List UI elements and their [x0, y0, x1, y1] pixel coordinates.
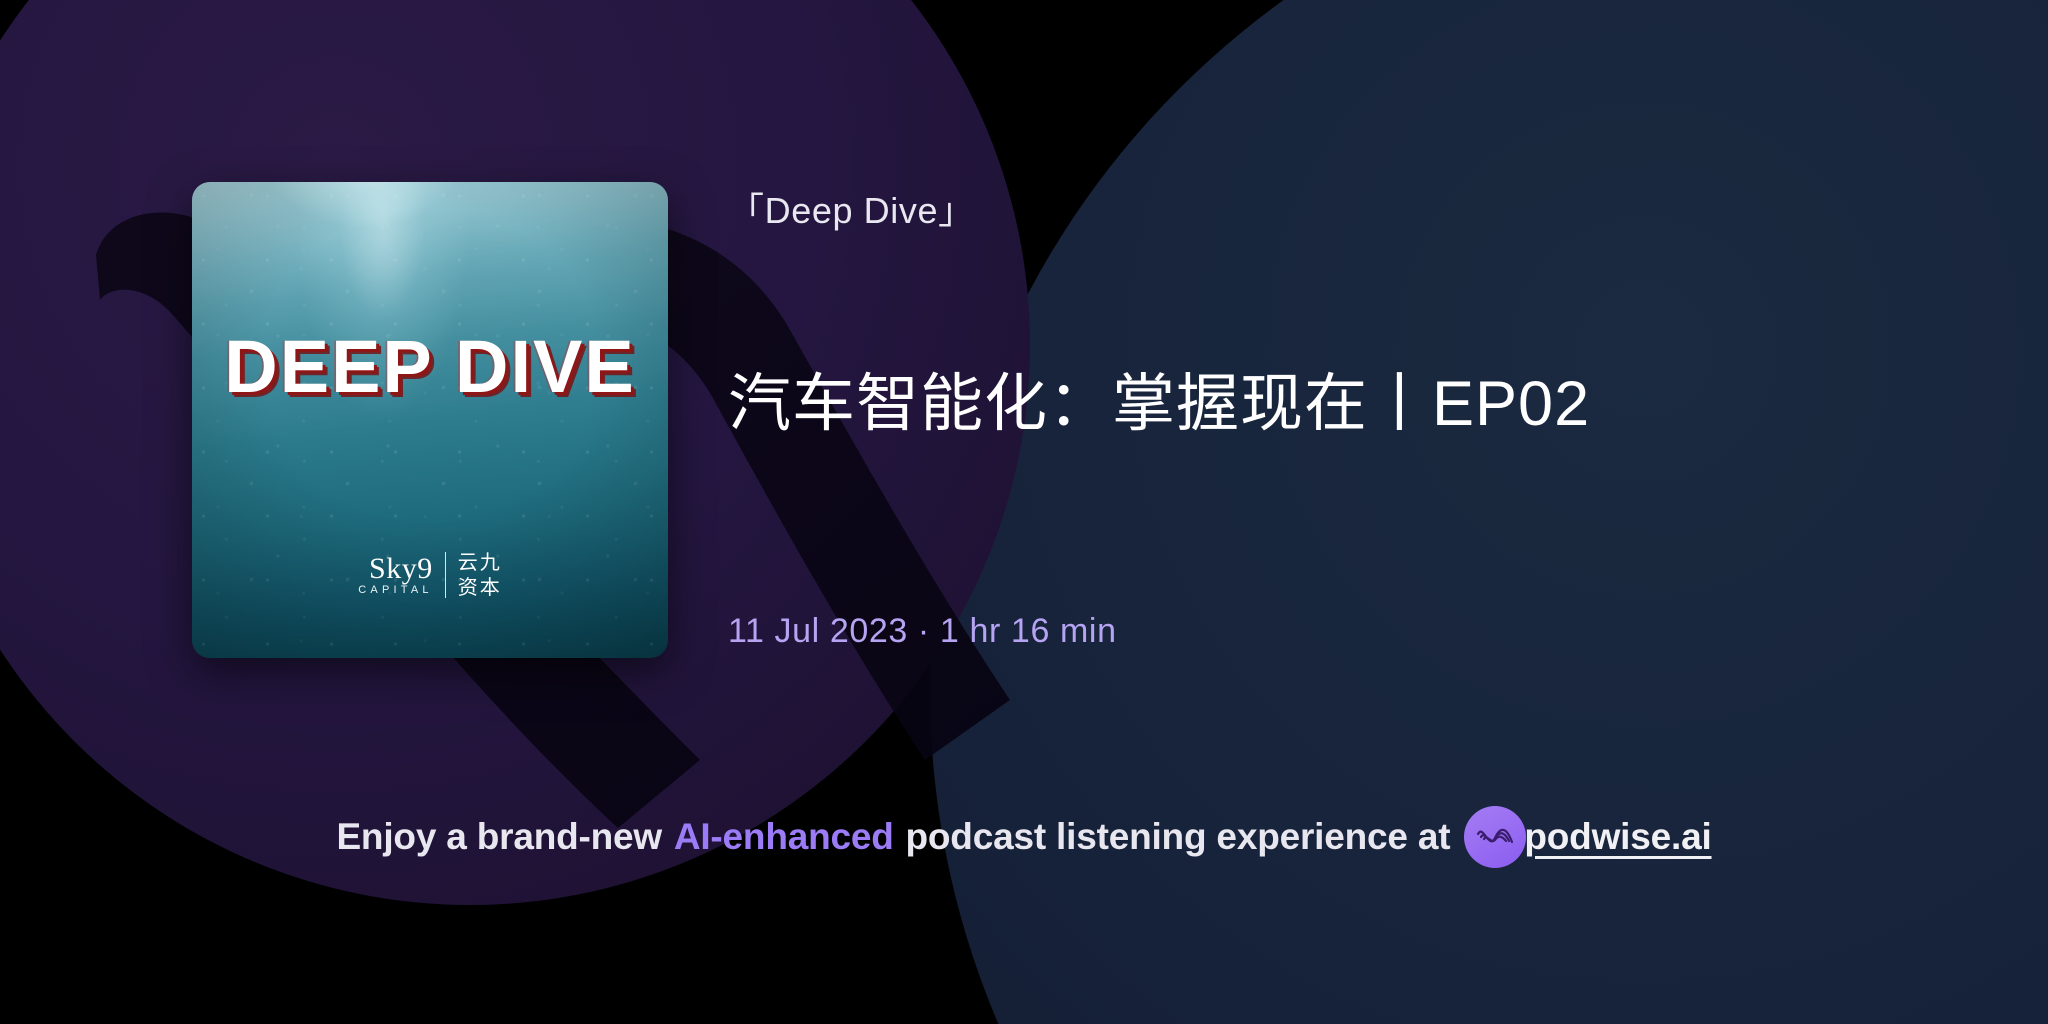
episode-info-column: 「Deep Dive」 汽车智能化：掌握现在丨EP02 11 Jul 2023 …	[728, 0, 1958, 1024]
tagline-highlight: AI-enhanced	[674, 816, 894, 858]
sponsor-cn-line-1: 云九	[458, 550, 502, 575]
podwise-brand-link[interactable]: podwise.ai	[1464, 806, 1711, 868]
cover-sponsor-logo: Sky9 CAPITAL 云九 资本	[192, 550, 668, 600]
sponsor-logo-divider	[445, 552, 446, 598]
card-content: DEEP DIVE Sky9 CAPITAL 云九 资本 「Deep Dive」…	[0, 0, 2048, 1024]
footer-tagline: Enjoy a brand-new AI-enhanced podcast li…	[0, 806, 2048, 868]
sponsor-cn-line-2: 资本	[458, 575, 502, 600]
sponsor-subtitle: CAPITAL	[358, 585, 432, 597]
episode-title: 汽车智能化：掌握现在丨EP02	[728, 365, 1590, 444]
sponsor-name: Sky9	[358, 553, 432, 585]
sponsor-wordmark: Sky9 CAPITAL	[358, 553, 432, 596]
podwise-wave-logo-icon	[1464, 806, 1526, 868]
cover-artwork-title: DEEP DIVE	[192, 324, 668, 409]
podcast-name[interactable]: 「Deep Dive」	[728, 182, 975, 234]
episode-cover-art[interactable]: DEEP DIVE Sky9 CAPITAL 云九 资本	[192, 182, 668, 658]
episode-share-card: DEEP DIVE Sky9 CAPITAL 云九 资本 「Deep Dive」…	[0, 0, 2048, 1024]
tagline-text-after: podcast listening experience at	[906, 816, 1451, 858]
episode-meta: 11 Jul 2023 · 1 hr 16 min	[728, 612, 1117, 651]
sponsor-name-cn: 云九 资本	[458, 550, 502, 600]
tagline-text-before: Enjoy a brand-new	[336, 816, 662, 858]
podwise-brand-name[interactable]: podwise.ai	[1524, 816, 1711, 858]
